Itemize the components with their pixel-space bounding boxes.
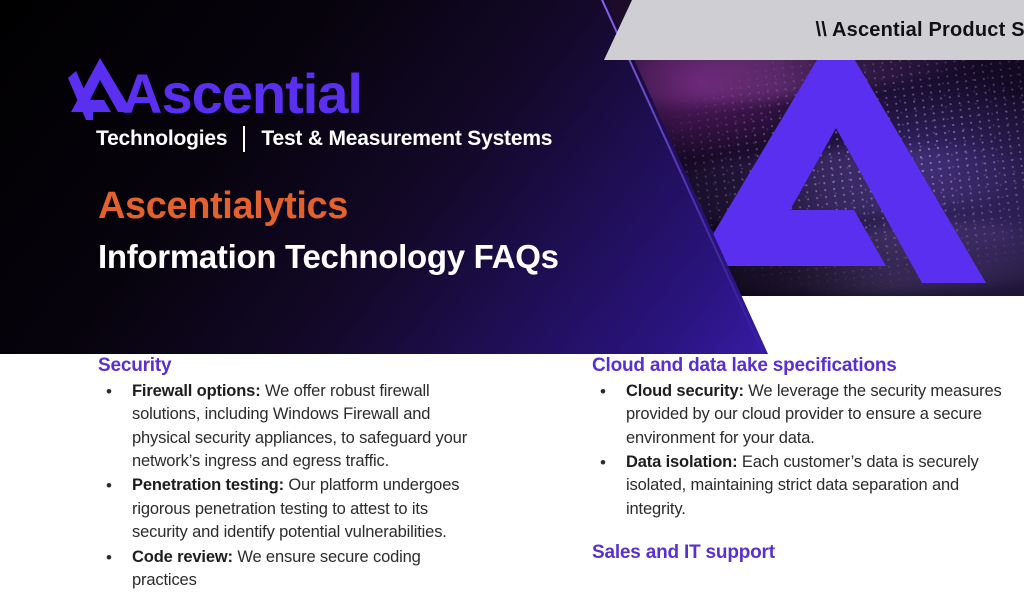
- product-support-bar: \\ Ascential Product Supp: [604, 0, 1024, 60]
- brand-wordmark: Ascential: [122, 67, 362, 120]
- faq-columns: SecurityFirewall options: We offer robus…: [0, 354, 1024, 593]
- faq-item-term: Data isolation:: [626, 453, 737, 471]
- faq-item-term: Penetration testing:: [132, 476, 284, 494]
- section-heading: Cloud and data lake specifications: [592, 354, 1014, 379]
- faq-column-right: Cloud and data lake specificationsCloud …: [497, 354, 1024, 593]
- faq-list-item: Data isolation: Each customer’s data is …: [592, 451, 1014, 521]
- faq-list: Firewall options: We offer robust firewa…: [98, 380, 485, 593]
- brand-subtitle-row: Technologies Test & Measurement Systems: [96, 126, 552, 152]
- page-title: Information Technology FAQs: [98, 238, 559, 276]
- brand-subtitle-divider: [243, 126, 245, 152]
- brand-subtitle-test-measurement: Test & Measurement Systems: [261, 127, 552, 151]
- faq-list-item: Code review: We ensure secure coding pra…: [98, 546, 485, 593]
- brand-wordmark-row: Ascential: [66, 58, 552, 120]
- brand-lockup: Ascential Technologies Test & Measuremen…: [66, 58, 552, 152]
- faq-list: Cloud security: We leverage the security…: [592, 380, 1014, 522]
- faq-item-term: Firewall options:: [132, 382, 261, 400]
- faq-body: SecurityFirewall options: We offer robus…: [0, 354, 1024, 614]
- brand-subtitle-technologies: Technologies: [96, 127, 227, 151]
- faq-list-item: Firewall options: We offer robust firewa…: [98, 380, 485, 474]
- faq-list-item: Penetration testing: Our platform underg…: [98, 474, 485, 544]
- faq-item-term: Code review:: [132, 548, 233, 566]
- product-title: Ascentialytics: [98, 185, 348, 228]
- faq-column-left: SecurityFirewall options: We offer robus…: [0, 354, 497, 593]
- section-heading: Security: [98, 354, 485, 379]
- ascential-logomark-large-icon: [686, 28, 986, 298]
- faq-item-term: Cloud security:: [626, 382, 744, 400]
- section-heading: Sales and IT support: [592, 541, 1014, 566]
- faq-list-item: Cloud security: We leverage the security…: [592, 380, 1014, 450]
- product-support-label: \\ Ascential Product Supp: [695, 19, 1024, 42]
- header-banner: \\ Ascential Product Supp Ascential Tech…: [0, 0, 1024, 354]
